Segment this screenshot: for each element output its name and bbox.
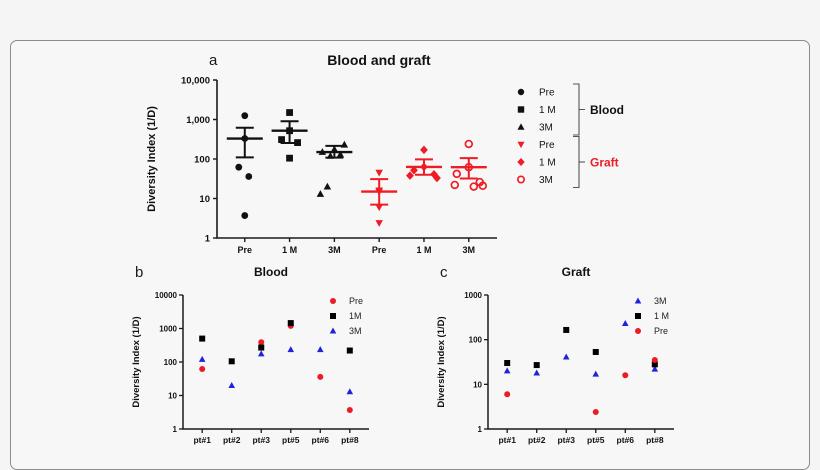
data-point — [622, 320, 629, 326]
legend-label: 1 M — [654, 311, 669, 321]
x-tick-label: 1 M — [282, 245, 297, 255]
data-point — [286, 109, 293, 116]
x-tick-label: pt#1 — [498, 435, 516, 445]
data-point — [652, 357, 658, 363]
panel-b-title: Blood — [181, 265, 361, 279]
data-point — [504, 391, 510, 397]
legend-label: 1 M — [539, 157, 556, 168]
y-tick-label: 1000 — [159, 325, 177, 334]
data-point — [286, 127, 293, 134]
data-point — [245, 173, 252, 180]
y-tick-label: 1000 — [464, 291, 482, 300]
data-point — [347, 388, 354, 394]
data-point — [324, 183, 331, 190]
y-tick-label: 10 — [199, 194, 210, 205]
x-tick-label: 1 M — [416, 245, 431, 255]
data-point — [241, 212, 248, 219]
y-tick-label: 10 — [473, 380, 482, 389]
legend-marker — [517, 123, 524, 129]
data-point — [341, 141, 348, 148]
legend-marker — [517, 158, 524, 166]
legend-group-label: Blood — [590, 103, 624, 117]
data-point — [199, 336, 205, 342]
data-point — [592, 371, 599, 377]
legend-marker — [635, 313, 641, 319]
panel-a-letter: a — [209, 52, 217, 69]
legend-marker — [330, 328, 337, 334]
legend-label: Pre — [539, 140, 555, 151]
data-point — [375, 204, 382, 211]
legend-marker — [330, 298, 336, 304]
panel-c-plot: 1101001000Diversity Index (1/D)pt#1pt#2p… — [426, 259, 746, 470]
legend-marker — [635, 328, 641, 334]
legend-label: Pre — [539, 87, 555, 98]
x-tick-label: pt#8 — [341, 435, 359, 445]
data-point — [278, 136, 285, 143]
legend-marker — [517, 142, 524, 148]
data-point — [375, 170, 382, 177]
data-point — [375, 220, 382, 227]
x-tick-label: pt#2 — [528, 435, 546, 445]
x-tick-label: pt#5 — [282, 435, 300, 445]
y-tick-label: 100 — [469, 336, 483, 345]
x-tick-label: Pre — [372, 245, 387, 255]
panel-b-plot: 110100100010000Diversity Index (1/D)pt#1… — [121, 259, 441, 470]
x-tick-label: pt#1 — [193, 435, 211, 445]
legend-label: Pre — [349, 296, 363, 306]
x-tick-label: 3M — [463, 245, 476, 255]
panel-a-axes — [217, 80, 497, 238]
x-tick-label: pt#6 — [617, 435, 635, 445]
y-tick-label: 10 — [168, 392, 177, 401]
y-tick-label: 100 — [164, 358, 178, 367]
legend-marker — [518, 176, 524, 182]
data-point — [593, 409, 599, 415]
ylabel: Diversity Index (1/D) — [436, 316, 447, 407]
data-point — [420, 146, 428, 155]
axes — [488, 295, 674, 429]
legend-label: 1M — [349, 311, 362, 321]
legend-label: 3M — [654, 296, 667, 306]
x-tick-label: pt#2 — [223, 435, 241, 445]
legend-marker — [518, 106, 524, 112]
data-point — [258, 345, 264, 351]
data-point — [317, 374, 323, 380]
data-point — [241, 135, 248, 142]
legend-label: 3M — [349, 326, 362, 336]
panel-a-title: Blood and graft — [249, 52, 509, 68]
legend-marker — [518, 89, 524, 95]
x-tick-label: pt#5 — [587, 435, 605, 445]
y-tick-label: 1 — [205, 233, 211, 244]
data-point — [317, 190, 324, 197]
panel-b: b Blood 110100100010000Diversity Index (… — [121, 259, 441, 470]
data-point — [465, 141, 472, 148]
data-point — [228, 382, 235, 388]
data-point — [241, 112, 248, 119]
x-tick-label: pt#8 — [646, 435, 664, 445]
y-tick-label: 10000 — [155, 291, 178, 300]
data-point — [563, 327, 569, 333]
data-point — [504, 367, 511, 373]
legend-label: 3M — [539, 122, 553, 133]
data-point — [229, 358, 235, 364]
data-point — [258, 350, 265, 356]
figure-card: a Blood and graft 1101001,00010,000Diver… — [10, 40, 810, 470]
data-point — [420, 163, 428, 172]
panel-c-title: Graft — [486, 265, 666, 279]
data-point — [199, 356, 206, 362]
panel-c: c Graft 1101001000Diversity Index (1/D)p… — [426, 259, 746, 470]
data-point — [504, 360, 510, 366]
x-tick-label: 3M — [328, 245, 341, 255]
data-point — [534, 362, 540, 368]
y-tick-label: 10,000 — [181, 75, 210, 86]
data-point — [258, 339, 264, 345]
legend-marker — [635, 298, 642, 304]
x-tick-label: pt#3 — [252, 435, 270, 445]
data-point — [288, 320, 294, 326]
y-tick-label: 1,000 — [186, 115, 210, 126]
data-point — [317, 346, 324, 352]
data-point — [593, 349, 599, 355]
legend-bracket — [573, 84, 579, 135]
data-point — [453, 170, 460, 177]
data-point — [563, 354, 570, 360]
legend-bracket — [573, 137, 579, 188]
data-point — [470, 183, 477, 190]
panel-a-plot: 1101001,00010,000Diversity Index (1/D)Pr… — [129, 44, 689, 269]
panel-b-letter: b — [135, 264, 143, 281]
panel-a: a Blood and graft 1101001,00010,000Diver… — [129, 44, 689, 269]
data-point — [235, 164, 242, 171]
x-tick-label: pt#6 — [312, 435, 330, 445]
y-tick-label: 1 — [478, 425, 483, 434]
panel-c-letter: c — [440, 264, 448, 281]
data-point — [287, 346, 294, 352]
data-point — [347, 348, 353, 354]
data-point — [533, 369, 540, 375]
x-tick-label: pt#3 — [557, 435, 575, 445]
legend-label: 1 M — [539, 105, 556, 116]
legend-marker — [330, 313, 336, 319]
data-point — [294, 139, 301, 146]
legend-label: 3M — [539, 175, 553, 186]
y-tick-label: 1 — [173, 425, 178, 434]
legend-label: Pre — [654, 326, 668, 336]
data-point — [199, 366, 205, 372]
x-tick-label: Pre — [238, 245, 253, 255]
y-tick-label: 100 — [194, 154, 210, 165]
data-point — [622, 372, 628, 378]
legend-group-label: Graft — [590, 156, 619, 170]
data-point — [347, 407, 353, 413]
axes — [183, 295, 369, 429]
data-point — [286, 155, 293, 162]
data-point — [451, 182, 458, 189]
ylabel: Diversity Index (1/D) — [131, 316, 142, 407]
panel-a-ylabel: Diversity Index (1/D) — [146, 106, 158, 212]
